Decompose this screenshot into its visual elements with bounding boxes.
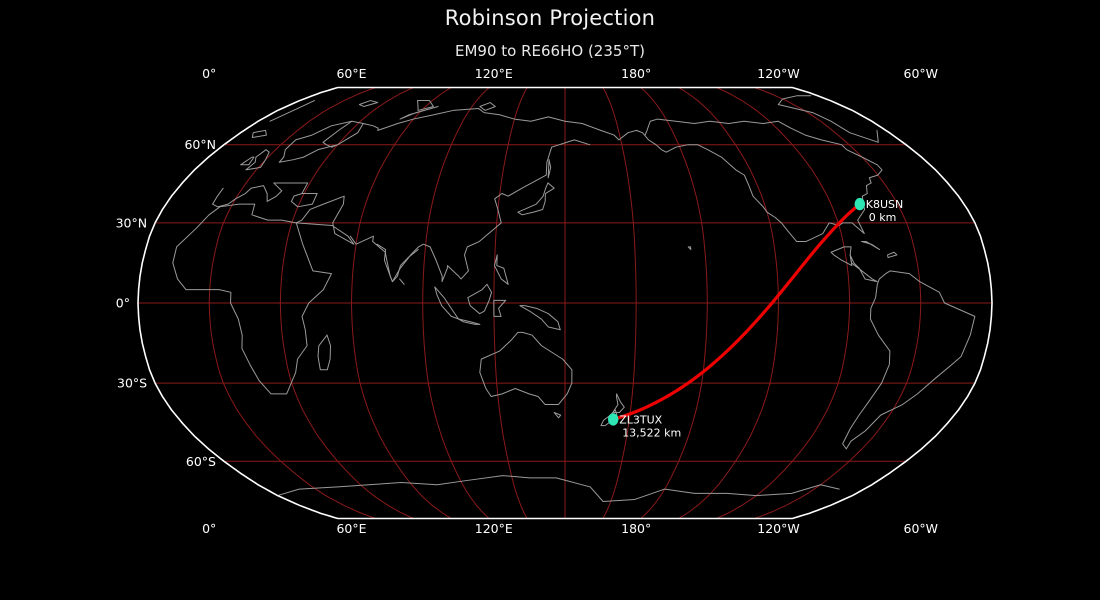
lon-tick-label-bottom-0: 60°E <box>336 521 366 536</box>
station-distance-zl3tux: 13,522 km <box>622 426 681 439</box>
axis-labels: 60°E60°E120°E120°E180°180°120°W120°W60°W… <box>116 66 938 536</box>
lat-tick-label-3: 30°S <box>117 376 147 391</box>
station-marker-zl3tux[interactable] <box>608 413 618 425</box>
great-circle-path <box>613 204 860 419</box>
lon-tick-label-top-2: 180° <box>621 66 651 81</box>
lon-tick-label-top-3: 120°W <box>757 66 799 81</box>
graticule <box>138 88 992 519</box>
lon-tick-label-bottom-4: 60°W <box>904 521 939 536</box>
lon-tick-label-top-1: 120°E <box>475 66 513 81</box>
lon-tick-label-top-0: 60°E <box>336 66 366 81</box>
station-distance-k8usn: 0 km <box>869 211 897 224</box>
station-callsign-k8usn: K8USN <box>866 198 903 211</box>
lon-tick-label-top-4: 60°W <box>904 66 939 81</box>
lon-tick-label-bottom-1: 120°E <box>475 521 513 536</box>
lat-tick-label-1: 30°N <box>116 215 148 230</box>
station-callsign-zl3tux: ZL3TUX <box>619 413 662 426</box>
lon-tick-label-bottom-2: 180° <box>621 521 651 536</box>
lon-tick-label-bottom-3: 120°W <box>757 521 799 536</box>
lat-tick-label-4: 60°S <box>186 454 216 469</box>
robinson-map-canvas: K8USN0 kmZL3TUX13,522 km 60°E60°E120°E12… <box>0 0 1100 600</box>
station-marker-k8usn[interactable] <box>855 198 865 210</box>
map-figure: Robinson Projection EM90 to RE66HO (235°… <box>0 0 1100 600</box>
lon-tick-label-bottom-5: 0° <box>202 521 216 536</box>
coastlines <box>173 96 975 502</box>
lon-tick-label-top-5: 0° <box>202 66 216 81</box>
lat-tick-label-0: 60°N <box>184 137 216 152</box>
lat-tick-label-2: 0° <box>116 296 130 311</box>
